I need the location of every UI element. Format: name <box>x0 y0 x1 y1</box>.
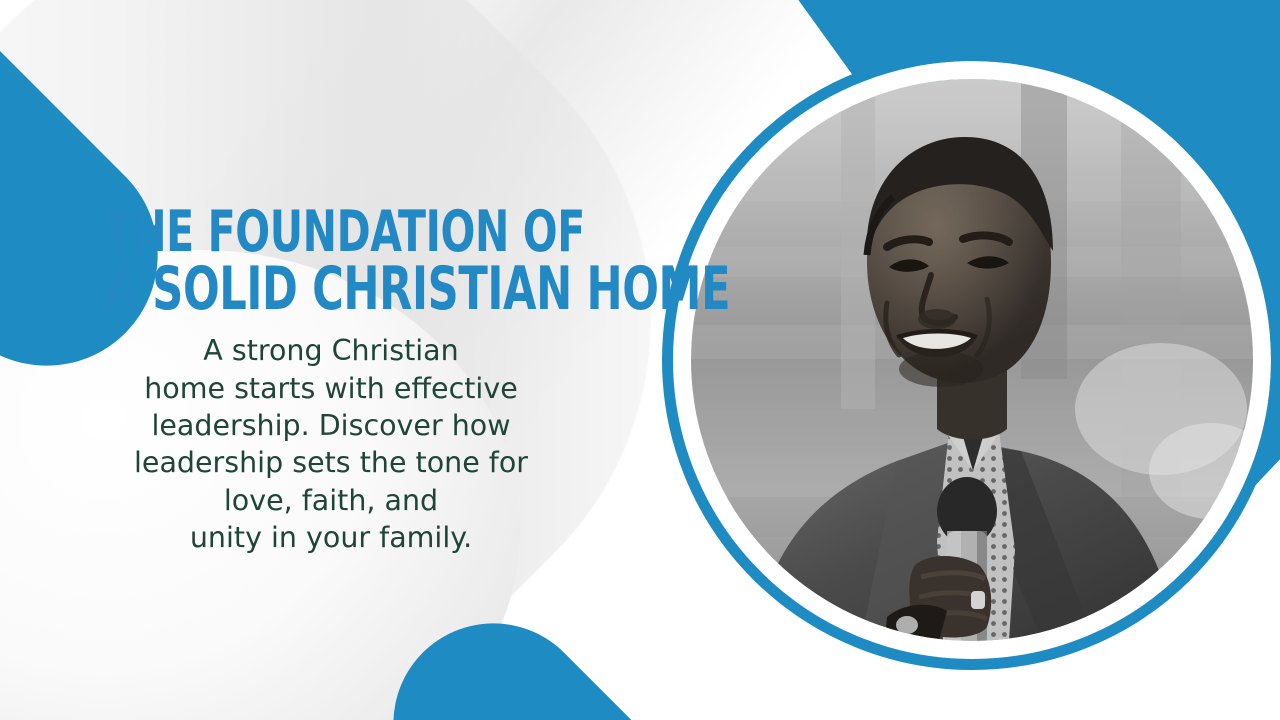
portrait-block <box>662 50 1280 670</box>
page-subtitle-line-4: leadership sets the tone for <box>48 444 614 481</box>
page-subtitle-line-2: home starts with effective <box>48 370 614 407</box>
page-subtitle: A strong Christian home starts with effe… <box>48 332 614 556</box>
slide-canvas: THE FOUNDATION OF A SOLID CHRISTIAN HOME… <box>0 0 1280 720</box>
page-subtitle-line-5: love, faith, and <box>48 482 614 519</box>
page-title-line-1: THE FOUNDATION OF <box>105 205 558 260</box>
portrait-blue-ring <box>662 50 1280 670</box>
page-subtitle-line-1: A strong Christian <box>48 332 614 369</box>
page-subtitle-line-6: unity in your family. <box>48 519 614 556</box>
page-title: THE FOUNDATION OF A SOLID CHRISTIAN HOME <box>105 205 558 318</box>
text-column: THE FOUNDATION OF A SOLID CHRISTIAN HOME… <box>48 205 614 556</box>
page-subtitle-line-3: leadership. Discover how <box>48 407 614 444</box>
page-title-line-2: A SOLID CHRISTIAN HOME <box>105 260 558 318</box>
